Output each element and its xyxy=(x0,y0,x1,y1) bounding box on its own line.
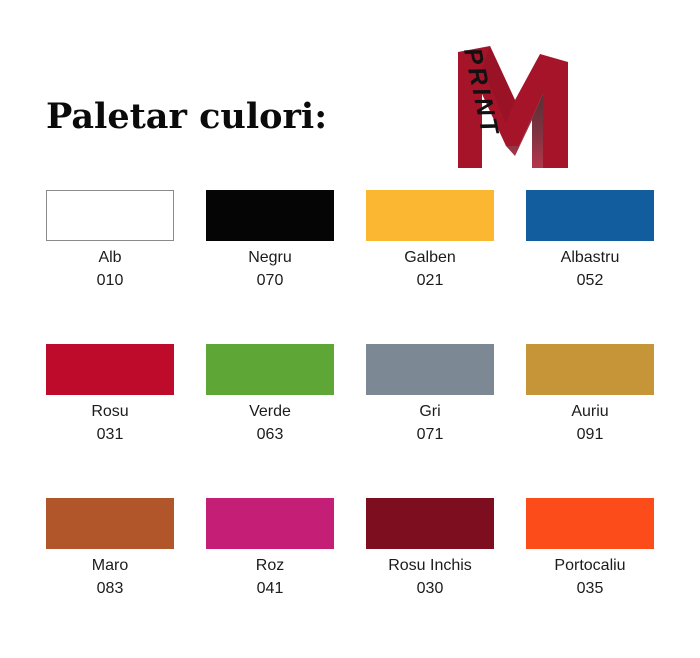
swatch-name: Alb xyxy=(98,248,121,268)
swatch-name: Negru xyxy=(248,248,292,268)
page-title: Paletar culori: xyxy=(46,96,327,137)
swatch-chip[interactable] xyxy=(206,190,334,241)
swatch-chip[interactable] xyxy=(366,344,494,395)
swatch-name: Galben xyxy=(404,248,456,268)
swatch-name: Maro xyxy=(92,556,128,576)
swatch-chip[interactable] xyxy=(46,344,174,395)
swatch-code: 030 xyxy=(417,579,444,599)
swatch-roz[interactable]: Roz 041 xyxy=(206,498,334,652)
swatch-chip[interactable] xyxy=(46,498,174,549)
swatch-chip[interactable] xyxy=(526,344,654,395)
swatch-name: Rosu Inchis xyxy=(388,556,472,576)
swatch-code: 031 xyxy=(97,425,124,445)
swatch-chip[interactable] xyxy=(526,190,654,241)
swatch-code: 091 xyxy=(577,425,604,445)
swatch-negru[interactable]: Negru 070 xyxy=(206,190,334,344)
swatch-chip[interactable] xyxy=(46,190,174,241)
swatch-auriu[interactable]: Auriu 091 xyxy=(526,344,654,498)
swatch-code: 035 xyxy=(577,579,604,599)
page-header: Paletar culori: xyxy=(0,0,700,180)
swatch-code: 083 xyxy=(97,579,124,599)
swatch-name: Auriu xyxy=(571,402,608,422)
swatch-name: Roz xyxy=(256,556,284,576)
mprint-logo: PRINT xyxy=(420,28,585,178)
palette-grid: Alb 010 Negru 070 Galben 021 Albastru 05… xyxy=(46,190,654,652)
swatch-code: 021 xyxy=(417,271,444,291)
swatch-chip[interactable] xyxy=(206,344,334,395)
swatch-name: Portocaliu xyxy=(554,556,625,576)
swatch-verde[interactable]: Verde 063 xyxy=(206,344,334,498)
swatch-albastru[interactable]: Albastru 052 xyxy=(526,190,654,344)
swatch-name: Verde xyxy=(249,402,291,422)
palette-row: Maro 083 Roz 041 Rosu Inchis 030 Portoca… xyxy=(46,498,654,652)
swatch-code: 052 xyxy=(577,271,604,291)
swatch-chip[interactable] xyxy=(366,498,494,549)
swatch-code: 071 xyxy=(417,425,444,445)
swatch-alb[interactable]: Alb 010 xyxy=(46,190,174,344)
color-palette-page: Paletar culori: xyxy=(0,0,700,658)
swatch-code: 041 xyxy=(257,579,284,599)
swatch-portocaliu[interactable]: Portocaliu 035 xyxy=(526,498,654,652)
swatch-rosu-inchis[interactable]: Rosu Inchis 030 xyxy=(366,498,494,652)
swatch-code: 070 xyxy=(257,271,284,291)
swatch-name: Albastru xyxy=(561,248,620,268)
swatch-code: 010 xyxy=(97,271,124,291)
swatch-chip[interactable] xyxy=(526,498,654,549)
swatch-galben[interactable]: Galben 021 xyxy=(366,190,494,344)
swatch-maro[interactable]: Maro 083 xyxy=(46,498,174,652)
palette-row: Alb 010 Negru 070 Galben 021 Albastru 05… xyxy=(46,190,654,344)
swatch-chip[interactable] xyxy=(366,190,494,241)
swatch-name: Gri xyxy=(419,402,440,422)
swatch-name: Rosu xyxy=(91,402,128,422)
swatch-chip[interactable] xyxy=(206,498,334,549)
logo-graphic: PRINT xyxy=(420,28,585,178)
palette-row: Rosu 031 Verde 063 Gri 071 Auriu 091 xyxy=(46,344,654,498)
swatch-rosu[interactable]: Rosu 031 xyxy=(46,344,174,498)
swatch-gri[interactable]: Gri 071 xyxy=(366,344,494,498)
swatch-code: 063 xyxy=(257,425,284,445)
